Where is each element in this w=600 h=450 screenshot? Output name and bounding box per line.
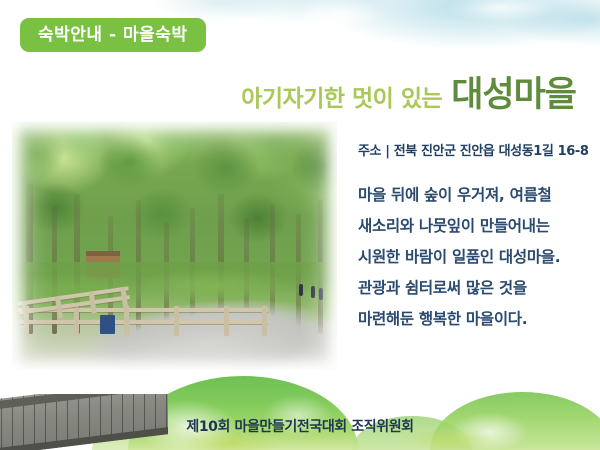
page-title: 아기자기한 멋이 있는 대성마을 bbox=[241, 66, 576, 117]
village-photo bbox=[12, 122, 337, 370]
address-line: 주소 | 전북 진안군 진안읍 대성동1길 16-8 bbox=[358, 140, 594, 159]
person-figure bbox=[299, 284, 303, 296]
footer-organization: 제10회 마을만들기전국대회 조직위원회 bbox=[0, 416, 600, 436]
description-line: 시원한 바람이 일품인 대성마을. bbox=[358, 245, 594, 267]
description-block: 마을 뒤에 숲이 우거져, 여름철 새소리와 나뭇잎이 만들어내는 시원한 바람… bbox=[358, 183, 594, 329]
info-panel: 주소 | 전북 진안군 진안읍 대성동1길 16-8 마을 뒤에 숲이 우거져,… bbox=[358, 140, 594, 329]
person-figure bbox=[319, 288, 323, 300]
information-sign bbox=[100, 315, 115, 334]
slide-canvas: 숙박안내 - 마을숙박 아기자기한 멋이 있는 대성마을 bbox=[0, 0, 600, 450]
section-badge-label: 숙박안내 - 마을숙박 bbox=[38, 27, 188, 44]
page-title-main: 대성마을 bbox=[451, 66, 576, 117]
section-badge: 숙박안내 - 마을숙박 bbox=[20, 18, 206, 52]
page-title-lead: 아기자기한 멋이 있는 bbox=[241, 79, 442, 113]
description-line: 새소리와 나뭇잎이 만들어내는 bbox=[358, 214, 594, 236]
description-line: 관광과 쉼터로써 많은 것을 bbox=[358, 276, 594, 298]
cloud-highlight bbox=[250, 0, 600, 60]
description-line: 마을 뒤에 숲이 우거져, 여름철 bbox=[358, 183, 594, 205]
description-line: 마련해둔 행복한 마을이다. bbox=[358, 307, 594, 329]
person-figure bbox=[311, 286, 315, 298]
